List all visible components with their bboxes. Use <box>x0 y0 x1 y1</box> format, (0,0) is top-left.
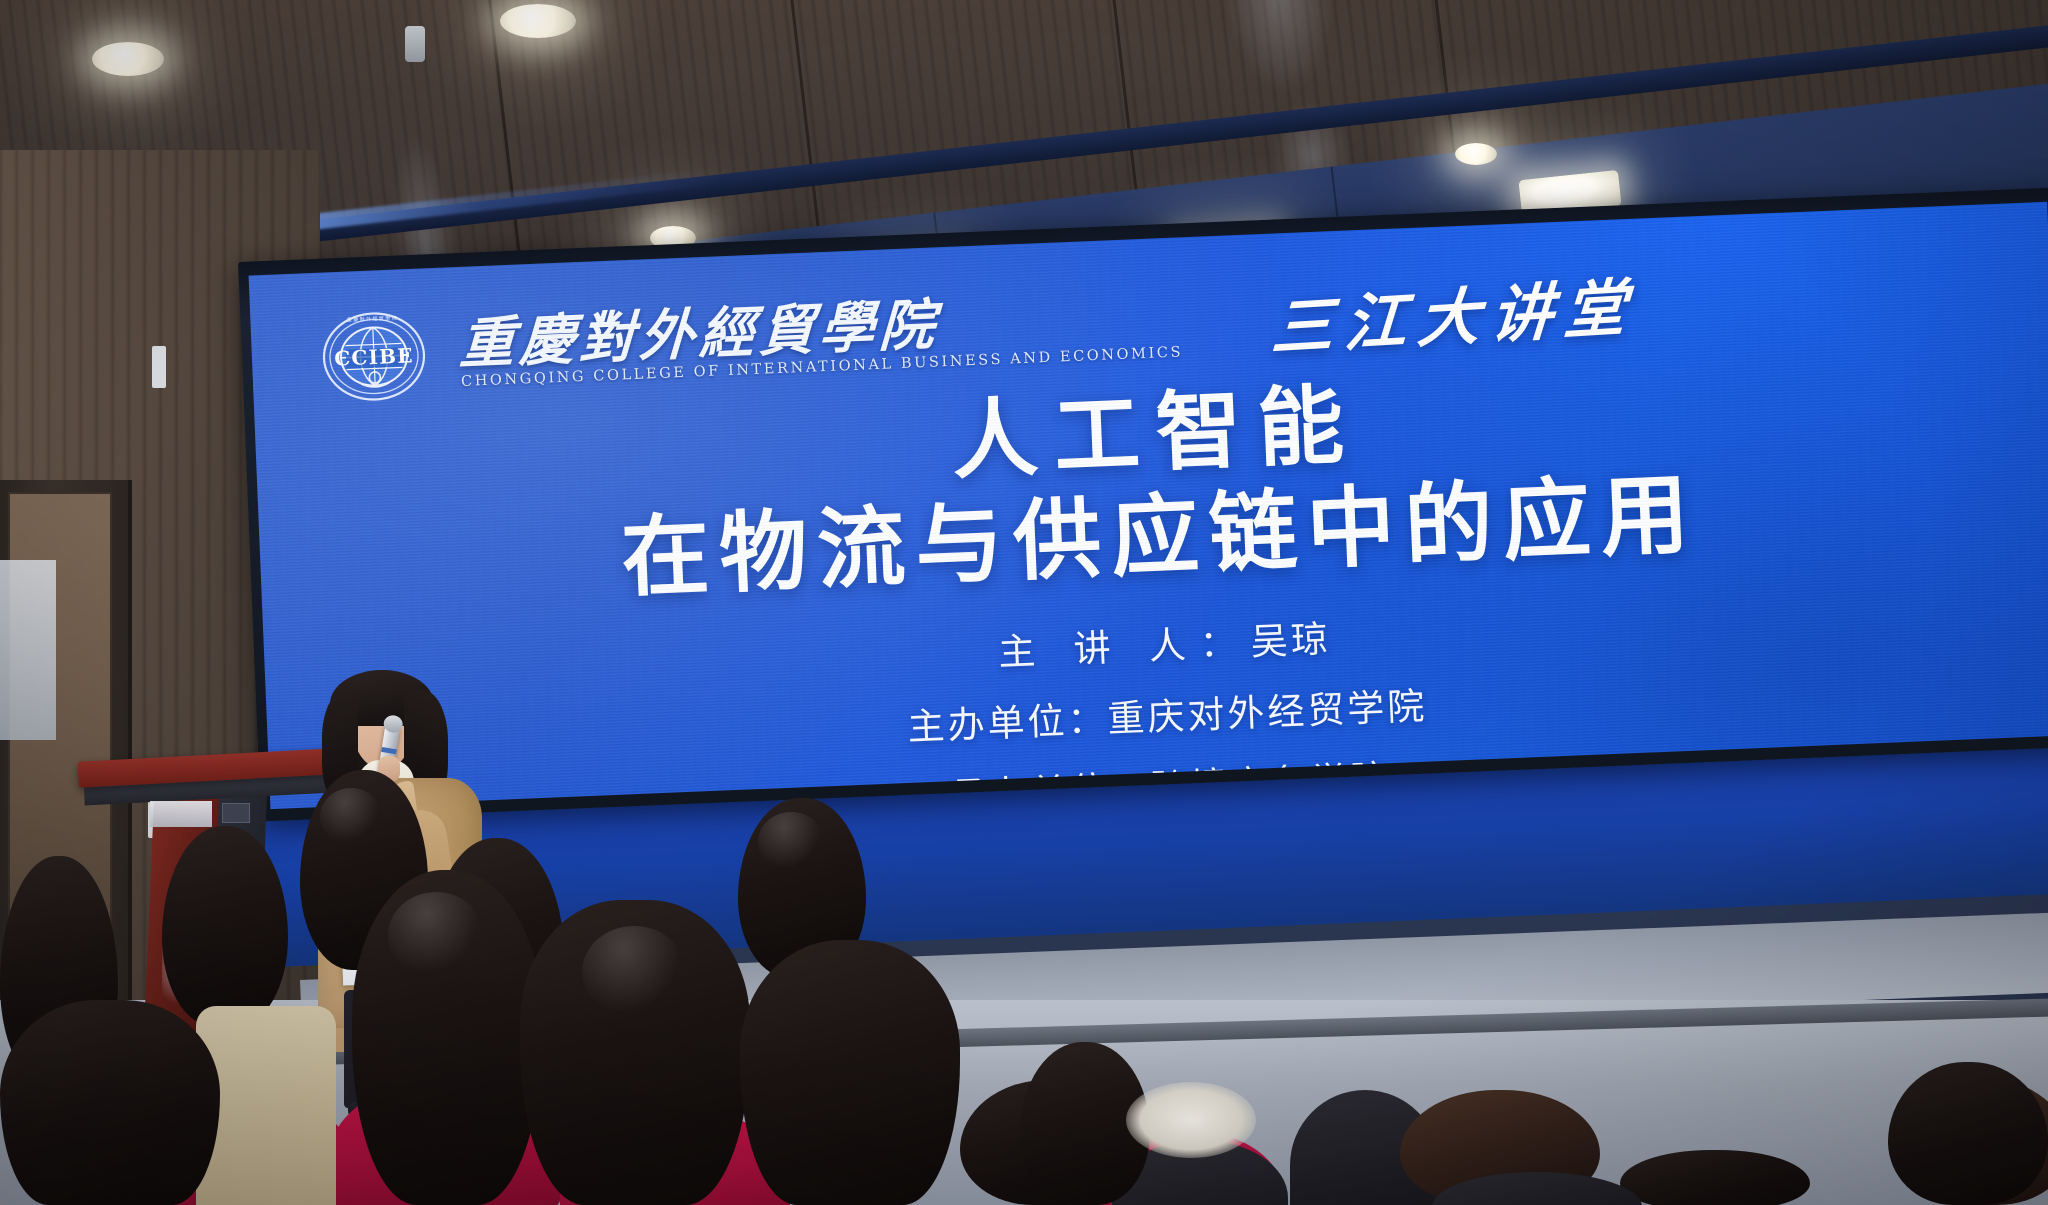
podium-reflection <box>162 945 206 1005</box>
hand-holding-microphone <box>378 756 400 782</box>
screen-bezel: CCIBE 重慶對外經貿學院 重慶對外經貿學院 CHONGQING COLLEG… <box>238 187 2048 821</box>
podium-control-panel[interactable] <box>222 803 250 823</box>
ceiling-spotlight <box>92 42 164 76</box>
podium <box>110 755 315 1085</box>
shoe-left <box>348 1102 384 1118</box>
trouser-crease <box>392 1020 399 1106</box>
sprinkler-head <box>405 26 425 62</box>
door-window <box>0 560 56 740</box>
screen-scanline-overlay <box>249 202 2048 809</box>
presentation-slide: CCIBE 重慶對外經貿學院 重慶對外經貿學院 CHONGQING COLLEG… <box>249 202 2048 809</box>
speaker-person <box>300 660 500 1120</box>
shoe-right <box>402 1102 438 1118</box>
ceiling-spotlight <box>1455 143 1497 165</box>
microphone-band <box>381 747 397 754</box>
podium-column-side <box>209 795 267 1070</box>
wall-switch-plate[interactable] <box>152 346 166 388</box>
hand-holding-papers <box>410 912 436 934</box>
lecture-hall-photo: CCIBE 重慶對外經貿學院 重慶對外經貿學院 CHONGQING COLLEG… <box>0 0 2048 1205</box>
podium-papers <box>150 801 212 827</box>
ceiling-spotlight <box>500 4 576 38</box>
